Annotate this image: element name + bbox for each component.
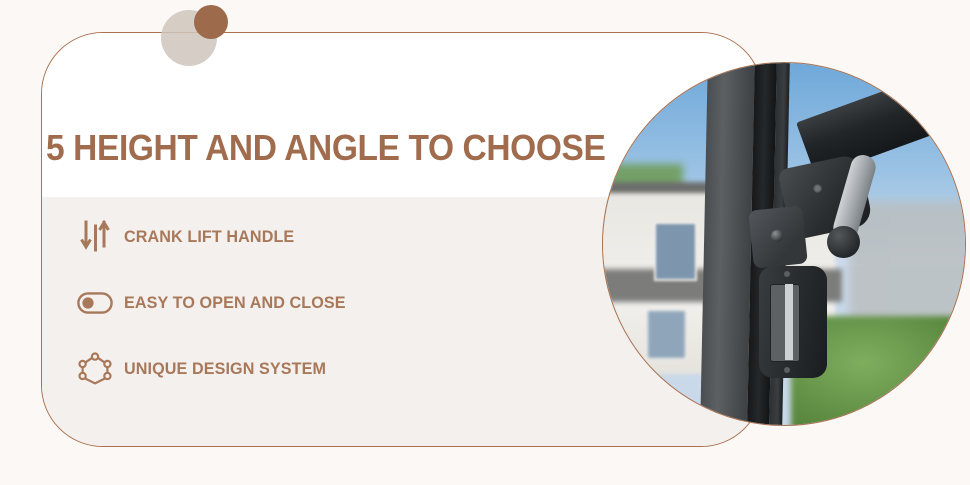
product-photo-circle bbox=[602, 62, 966, 426]
feature-item-crank-lift-handle: CRANK LIFT HANDLE bbox=[74, 214, 554, 260]
page-title: 5 HEIGHT AND ANGLE TO CHOOSE bbox=[46, 128, 605, 168]
feature-label: UNIQUE DESIGN SYSTEM bbox=[124, 359, 326, 379]
toggle-switch-icon bbox=[74, 282, 116, 324]
feature-list: CRANK LIFT HANDLE EASY TO OPEN AND CLOSE bbox=[74, 214, 554, 412]
photo-window-frame-outer bbox=[700, 63, 755, 425]
decorative-circle-small-icon bbox=[194, 5, 228, 39]
photo-plate-screw bbox=[771, 230, 783, 242]
photo-house-window-lower bbox=[646, 309, 686, 360]
feature-label: EASY TO OPEN AND CLOSE bbox=[124, 293, 346, 313]
feature-label: CRANK LIFT HANDLE bbox=[124, 227, 294, 247]
up-down-arrows-icon bbox=[74, 216, 116, 258]
feature-item-easy-open-close: EASY TO OPEN AND CLOSE bbox=[74, 280, 554, 326]
photo-house-window-upper bbox=[654, 222, 698, 280]
hexagon-nodes-icon bbox=[74, 348, 116, 390]
photo-handle-highlight bbox=[785, 284, 793, 360]
poster-root: 5 HEIGHT AND ANGLE TO CHOOSE CRANK LIFT … bbox=[0, 0, 970, 485]
feature-item-unique-design-system: UNIQUE DESIGN SYSTEM bbox=[74, 346, 554, 392]
product-photo-image bbox=[603, 63, 965, 425]
